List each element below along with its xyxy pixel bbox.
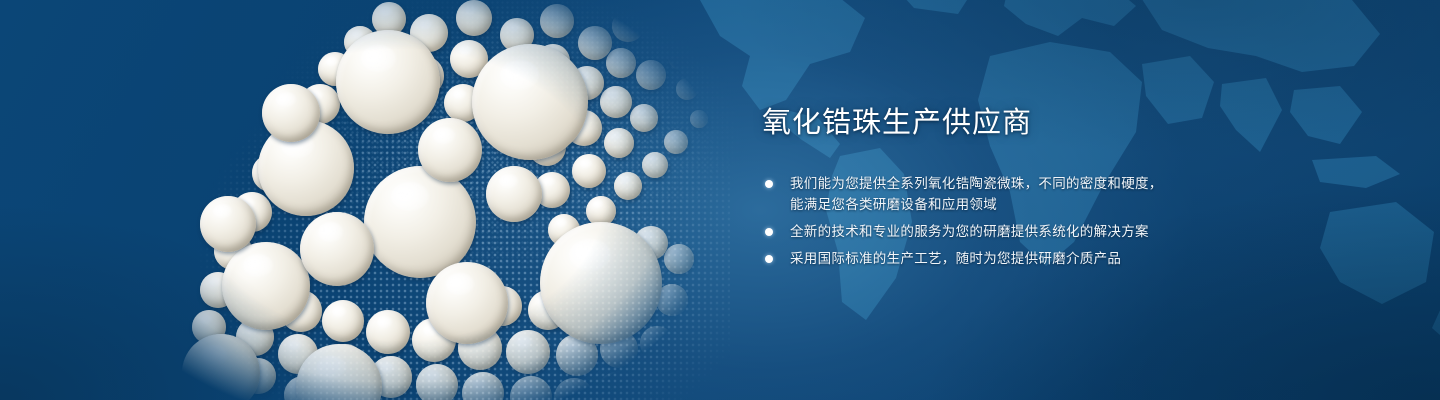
list-item-line: 能满足您各类研磨设备和应用领域: [790, 194, 1242, 215]
bullet-dot-icon: [765, 228, 773, 236]
banner-copy-block: 氧化锆珠生产供应商 我们能为您提供全系列氧化锆陶瓷微珠，不同的密度和硬度， 能满…: [762, 106, 1242, 269]
list-item-line: 采用国际标准的生产工艺，随时为您提供研磨介质产品: [790, 248, 1242, 269]
list-item: 采用国际标准的生产工艺，随时为您提供研磨介质产品: [762, 248, 1242, 269]
list-item-line: 我们能为您提供全系列氧化锆陶瓷微珠，不同的密度和硬度，: [790, 173, 1242, 194]
hero-banner: 氧化锆珠生产供应商 我们能为您提供全系列氧化锆陶瓷微珠，不同的密度和硬度， 能满…: [0, 0, 1440, 400]
bullet-dot-icon: [765, 255, 773, 263]
list-item: 我们能为您提供全系列氧化锆陶瓷微珠，不同的密度和硬度， 能满足您各类研磨设备和应…: [762, 173, 1242, 215]
page-title: 氧化锆珠生产供应商: [762, 106, 1242, 140]
list-item: 全新的技术和专业的服务为您的研磨提供系统化的解决方案: [762, 221, 1242, 242]
feature-list: 我们能为您提供全系列氧化锆陶瓷微珠，不同的密度和硬度， 能满足您各类研磨设备和应…: [762, 173, 1242, 269]
list-item-line: 全新的技术和专业的服务为您的研磨提供系统化的解决方案: [790, 221, 1242, 242]
bullet-dot-icon: [765, 180, 773, 188]
